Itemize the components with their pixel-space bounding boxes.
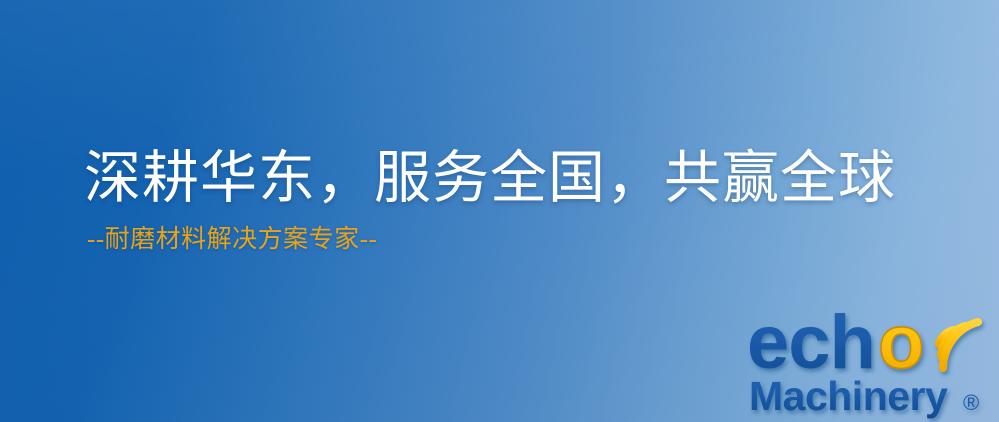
registered-trademark-icon: ® (963, 390, 979, 415)
promo-banner: 深耕华东，服务全国，共赢全球 --耐磨材料解决方案专家-- echo Machi… (0, 0, 999, 422)
banner-headline: 深耕华东，服务全国，共赢全球 (84, 150, 896, 208)
signal-waves-icon (939, 322, 978, 368)
echo-machinery-logo: echo Machinery (741, 290, 999, 422)
banner-subtitle: --耐磨材料解决方案专家-- (87, 226, 896, 254)
banner-text-block: 深耕华东，服务全国，共赢全球 --耐磨材料解决方案专家-- (84, 150, 896, 254)
logo-brandline-graphic: Machinery ® (749, 373, 979, 419)
logo-machinery-letters: Machinery (749, 373, 948, 419)
logo-graphic: ech o Machinery ® (741, 290, 999, 422)
